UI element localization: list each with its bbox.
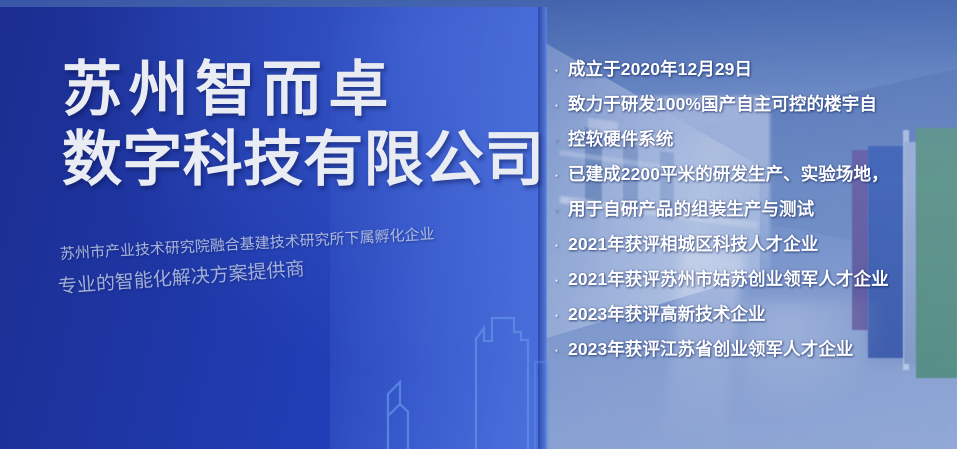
list-item-label: 2021年获评相城区科技人才企业 bbox=[568, 227, 818, 262]
list-item: ·致力于研发100%国产自主可控的楼宇自 bbox=[545, 87, 957, 122]
list-item-label: 致力于研发100%国产自主可控的楼宇自 bbox=[568, 87, 877, 122]
bullet-dot-icon: · bbox=[545, 332, 568, 367]
list-item: ·2021年获评相城区科技人才企业 bbox=[545, 227, 957, 262]
slide-container: 苏州智而卓 数字科技有限公司 苏州市产业技术研究院融合基建技术研究所下属孵化企业… bbox=[0, 0, 957, 449]
logo-line-1: 苏州智而卓 bbox=[62, 58, 532, 122]
logo-line-2: 数字科技有限公司 bbox=[62, 128, 532, 192]
bullet-dot-icon: · bbox=[545, 157, 568, 192]
list-item: ·2021年获评苏州市姑苏创业领军人才企业 bbox=[545, 262, 957, 297]
bullet-dot-spacer: · bbox=[545, 122, 568, 157]
bullet-dot-icon: · bbox=[545, 262, 568, 297]
list-item-label: 2021年获评苏州市姑苏创业领军人才企业 bbox=[568, 262, 889, 297]
list-item-continuation: ·用于自研产品的组装生产与测试 bbox=[545, 192, 957, 227]
bullet-dot-icon: · bbox=[545, 227, 568, 262]
bullet-dot-icon: · bbox=[545, 87, 568, 122]
list-item-continuation: ·控软硬件系统 bbox=[545, 122, 957, 157]
list-item-label: 成立于2020年12月29日 bbox=[568, 52, 752, 87]
list-item-label: 2023年获评高新技术企业 bbox=[568, 297, 766, 332]
list-item-label: 2023年获评江苏省创业领军人才企业 bbox=[568, 332, 854, 367]
bullet-dot-spacer: · bbox=[545, 192, 568, 227]
company-milestones-list: ·成立于2020年12月29日·致力于研发100%国产自主可控的楼宇自·控软硬件… bbox=[545, 52, 957, 367]
list-item-label: 控软硬件系统 bbox=[568, 122, 674, 157]
list-item: ·2023年获评江苏省创业领军人才企业 bbox=[545, 332, 957, 367]
bullet-dot-icon: · bbox=[545, 52, 568, 87]
list-item-label: 已建成2200平米的研发生产、实验场地， bbox=[568, 157, 889, 192]
list-item: ·已建成2200平米的研发生产、实验场地， bbox=[545, 157, 957, 192]
company-logo-text: 苏州智而卓 数字科技有限公司 bbox=[62, 58, 532, 192]
list-item: ·2023年获评高新技术企业 bbox=[545, 297, 957, 332]
list-item: ·成立于2020年12月29日 bbox=[545, 52, 957, 87]
bullet-dot-icon: · bbox=[545, 297, 568, 332]
list-item-label: 用于自研产品的组装生产与测试 bbox=[568, 192, 814, 227]
